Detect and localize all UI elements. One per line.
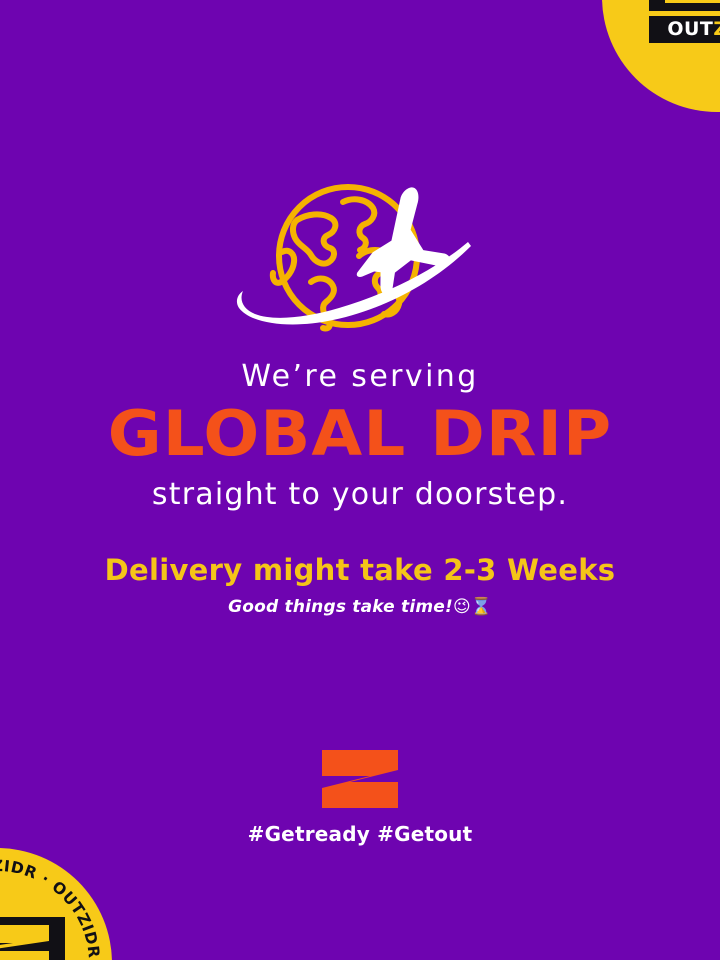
badge-core-top-right: OUTZIDR <box>649 0 720 43</box>
winking-face-emoji: 😉 <box>453 597 471 617</box>
badge-z-mark-bottom-left <box>0 917 65 960</box>
badge-wordmark-top-right: OUTZIDR <box>649 16 720 43</box>
headline-text: GLOBAL DRIP <box>0 401 720 466</box>
brand-z-logo-icon <box>320 748 400 810</box>
eyebrow-text: We’re serving <box>0 360 720 395</box>
badge-core-bottom-left: OUTZIDR <box>0 917 65 960</box>
z-logo-icon <box>649 0 720 11</box>
subheadline-text: straight to your doorstep. <box>0 478 720 513</box>
hourglass-emoji: ⌛ <box>471 597 492 617</box>
reassurance-label: Good things take time! <box>228 597 453 617</box>
z-logo-icon <box>0 917 65 960</box>
globe-airplane-illustration <box>235 178 485 348</box>
badge-wordmark-accent: Z <box>713 18 720 40</box>
brand-badge-top-right: OUTZIDR · OUTZIDR · OUTZIDR · OUTZIDR · … <box>602 0 720 112</box>
globe-icon <box>235 178 485 348</box>
badge-z-mark-top-right <box>649 0 720 11</box>
brand-badge-bottom-left: OUTZIDR · OUTZIDR · OUTZIDR · OUTZIDR · … <box>0 848 112 960</box>
poster-copy-stack: We’re serving GLOBAL DRIP straight to yo… <box>0 360 720 618</box>
reassurance-text: Good things take time!😉⌛ <box>0 597 720 617</box>
footer-brand-lockup: #Getready #Getout <box>0 748 720 846</box>
promo-poster: OUTZIDR · OUTZIDR · OUTZIDR · OUTZIDR · … <box>0 0 720 960</box>
badge-wordmark-prefix: OUT <box>667 18 713 40</box>
delivery-notice-text: Delivery might take 2-3 Weeks <box>0 554 720 587</box>
hashtags-text: #Getready #Getout <box>0 822 720 846</box>
